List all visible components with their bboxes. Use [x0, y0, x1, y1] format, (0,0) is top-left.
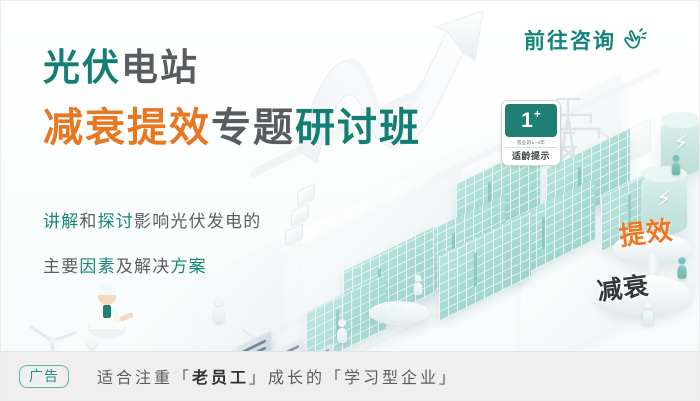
- engineer-figure: [81, 279, 133, 339]
- person-figure: [643, 301, 653, 325]
- age-rating-plus: +: [534, 108, 541, 120]
- age-rating-number: 1: [521, 110, 533, 131]
- headline-token: 研讨班: [295, 106, 421, 150]
- ad-footer-text: 适合注重「老员工」成长的「学习型企业」: [97, 364, 458, 388]
- age-rating-square: 1 +: [505, 104, 557, 137]
- headline-token: 电站: [121, 47, 199, 88]
- pedestal-disc: [369, 301, 429, 325]
- headline: 光伏电站 减衰提效专题研讨班: [43, 49, 421, 148]
- age-rating-badge: 1 + 营业的1~4年 适龄提示: [501, 100, 561, 166]
- advertisement-banner[interactable]: ⚡ ⚡: [0, 0, 700, 401]
- age-rating-note: 营业的1~4年: [517, 139, 545, 146]
- headline-line-2: 减衰提效专题研讨班: [43, 108, 421, 148]
- cta-label: 前往咨询: [524, 25, 616, 55]
- person-figure: [678, 257, 687, 279]
- subtitle-token: 探讨: [98, 212, 134, 231]
- ad-footer-bar[interactable]: 广告 适合注重「老员工」成长的「学习型企业」: [1, 351, 700, 400]
- ad-label-badge: 广告: [19, 365, 69, 388]
- subtitle-line-2: 主要因素及解决方案: [43, 258, 261, 275]
- ad-footer-text-part: 」成长的「学习型企业」: [249, 370, 458, 387]
- headline-token: 减衰提效: [43, 106, 211, 150]
- person-figure: [214, 298, 224, 322]
- person-figure: [672, 155, 681, 175]
- ad-footer-text-part: 适合注重「: [97, 370, 192, 387]
- subtitle-token: 因素: [79, 257, 115, 276]
- subtitle-token: 讲解: [43, 212, 79, 231]
- ad-footer-text-part: 老员工: [192, 370, 249, 387]
- headline-token: 光伏: [43, 47, 121, 88]
- age-rating-label: 适龄提示: [505, 147, 557, 162]
- subtitle-token: 主要: [43, 257, 79, 276]
- headline-token: 专题: [211, 106, 295, 150]
- person-figure: [414, 275, 423, 295]
- subtitle-token: 方案: [170, 257, 206, 276]
- subtitle-line-1: 讲解和探讨影响光伏发电的: [43, 213, 261, 230]
- callout-efficiency: 提效: [617, 210, 675, 253]
- wind-turbine-icon: [23, 319, 81, 353]
- headline-line-1: 光伏电站: [43, 49, 421, 86]
- subtitle-token: 影响光伏发电的: [134, 212, 261, 231]
- subtitle-token: 和: [79, 212, 97, 231]
- person-figure: [337, 319, 347, 343]
- pointing-hand-icon: [621, 27, 647, 53]
- subtitle: 讲解和探讨影响光伏发电的 主要因素及解决方案: [43, 213, 261, 275]
- consult-cta-button[interactable]: 前往咨询: [524, 25, 647, 55]
- callout-attenuation: 减衰: [595, 266, 651, 308]
- subtitle-token: 及解决: [116, 257, 171, 276]
